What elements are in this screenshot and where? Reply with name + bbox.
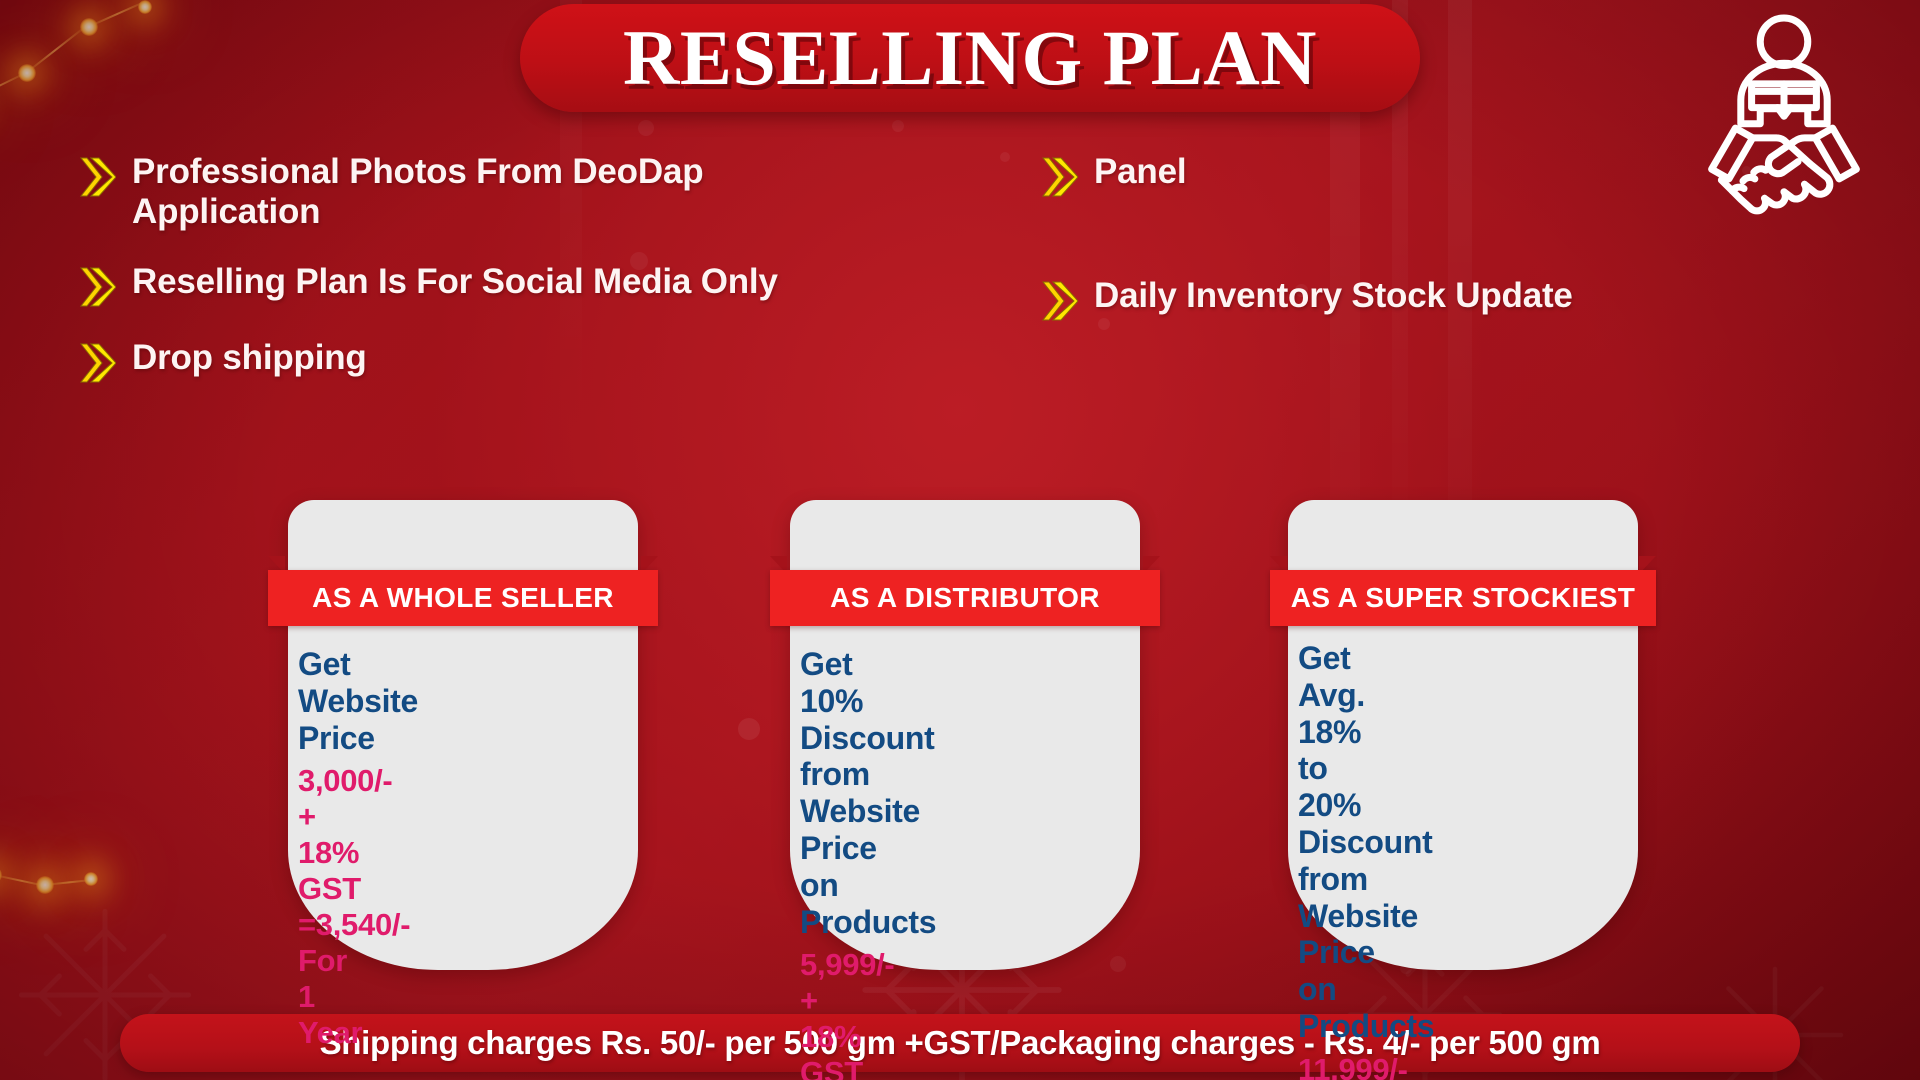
footer-banner: Shipping charges Rs. 50/- per 500 gm +GS… xyxy=(120,1014,1800,1072)
title-banner: RESELLING PLAN xyxy=(520,4,1420,112)
pricing-cards: AS A WHOLE SELLER Get Website Price 3,00… xyxy=(0,500,1920,990)
page-title: RESELLING PLAN xyxy=(623,13,1317,103)
chevron-right-icon xyxy=(78,342,116,384)
chevron-right-icon xyxy=(1040,156,1078,198)
bullet-item: Panel xyxy=(1040,152,1780,198)
bullet-item: Professional Photos From DeoDap Applicat… xyxy=(78,152,868,232)
bullet-label: Panel xyxy=(1094,152,1186,192)
bullet-label: Reselling Plan Is For Social Media Only xyxy=(132,262,778,302)
bullet-list-right: Panel Daily Inventory Stock Update xyxy=(1040,152,1780,352)
plan-ribbon: AS A WHOLE SELLER xyxy=(268,570,658,626)
plan-ribbon-label: AS A WHOLE SELLER xyxy=(312,582,614,614)
chevron-right-icon xyxy=(78,266,116,308)
plan-ribbon-label: AS A DISTRIBUTOR xyxy=(830,582,1100,614)
chevron-right-icon xyxy=(1040,280,1078,322)
plan-ribbon: AS A SUPER STOCKIEST xyxy=(1270,570,1656,626)
bullet-item: Drop shipping xyxy=(78,338,868,384)
string-lights-top-left xyxy=(0,0,220,170)
bullet-item: Reselling Plan Is For Social Media Only xyxy=(78,262,868,308)
bullet-label: Professional Photos From DeoDap Applicat… xyxy=(132,152,868,232)
bullet-list-left: Professional Photos From DeoDap Applicat… xyxy=(78,152,868,414)
bullet-item: Daily Inventory Stock Update xyxy=(1040,276,1780,322)
plan-ribbon: AS A DISTRIBUTOR xyxy=(770,570,1160,626)
bullet-label: Drop shipping xyxy=(132,338,367,378)
poster-canvas: RESELLING PLAN Profes xyxy=(0,0,1920,1080)
plan-ribbon-label: AS A SUPER STOCKIEST xyxy=(1291,582,1636,614)
bullet-label: Daily Inventory Stock Update xyxy=(1094,276,1573,316)
chevron-right-icon xyxy=(78,156,116,198)
